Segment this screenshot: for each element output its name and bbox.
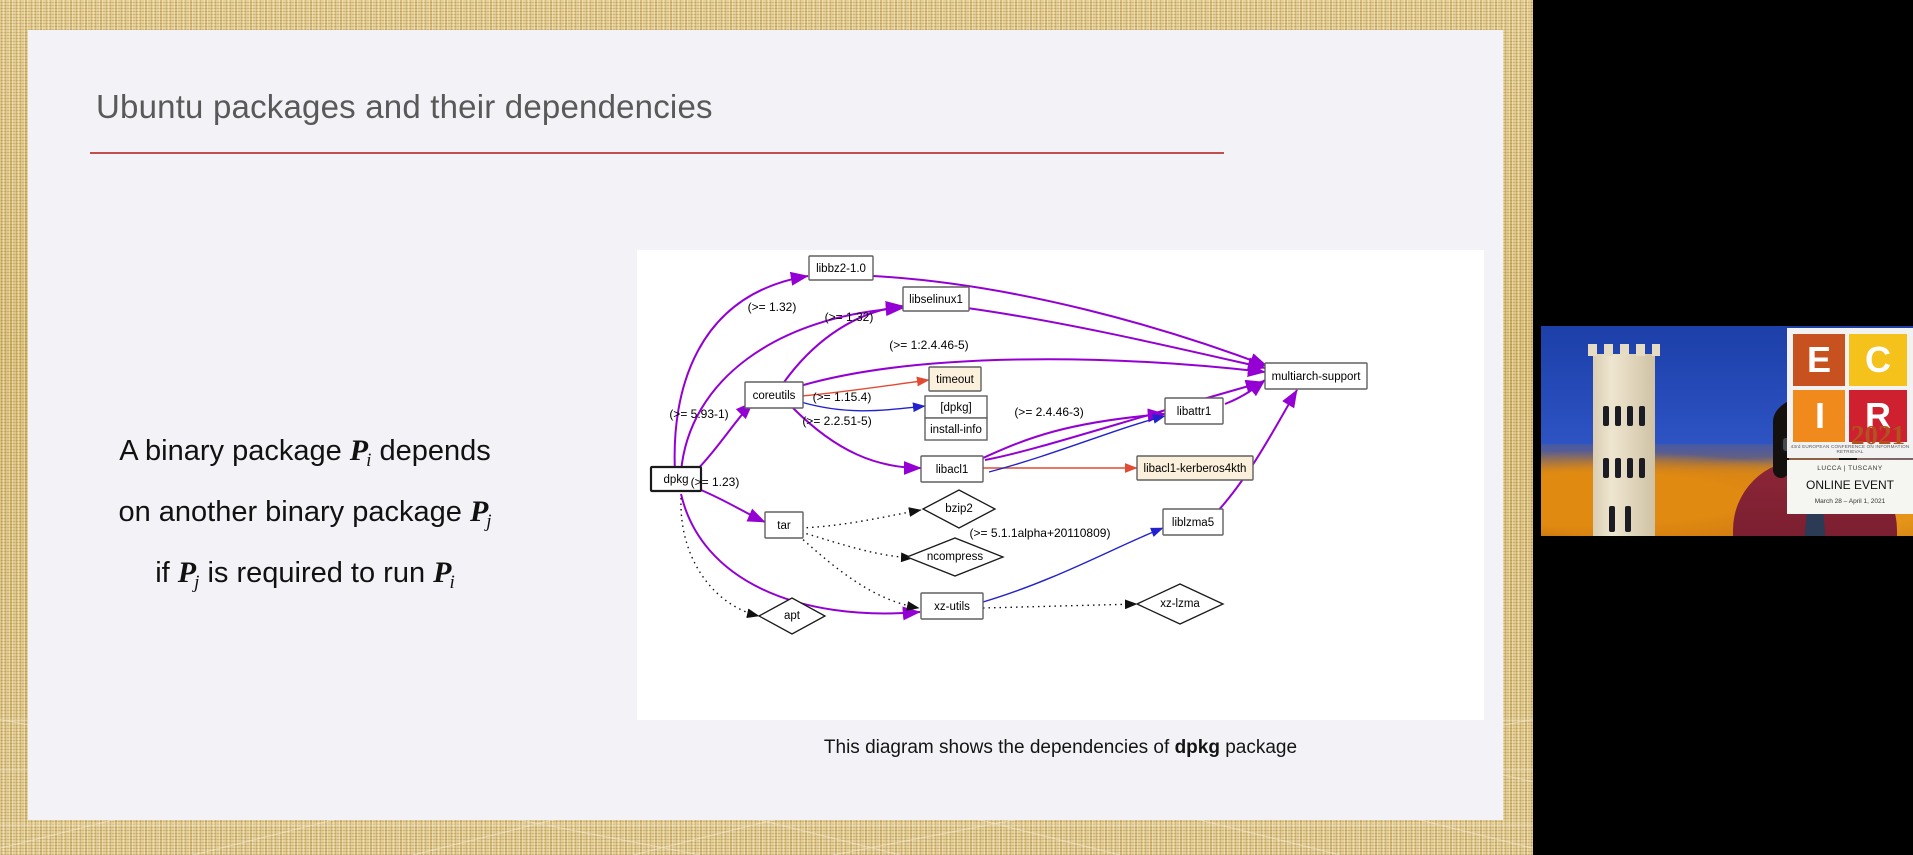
node-libselinux1[interactable]: libselinux1 <box>903 287 969 311</box>
logo-tile-i: I <box>1793 390 1845 442</box>
node-label-libacl1-kerberos4kth: libacl1-kerberos4kth <box>1144 463 1247 475</box>
logo-subtitle: 43rd EUROPEAN CONFERENCE ON INFORMATION … <box>1789 444 1911 454</box>
event-location: LUCCA | TUSCANY <box>1787 465 1913 472</box>
slide-frame-background: Ubuntu packages and their dependencies A… <box>0 0 1533 855</box>
node-label-libselinux1: libselinux1 <box>909 294 963 306</box>
body-line3-pre: if <box>155 557 178 589</box>
node-libbz2-1-0[interactable]: libbz2-1.0 <box>809 256 873 280</box>
body-line3-mid: is required to run <box>199 557 433 589</box>
edge-label-7: (>= 1.23) <box>691 475 740 489</box>
math-sub-i2: i <box>449 572 454 593</box>
diagram-edges <box>675 276 1297 616</box>
caption-pre: This diagram shows the dependencies of <box>824 737 1175 758</box>
event-dates: March 28 – April 1, 2021 <box>1787 498 1913 505</box>
video-panel: E C I R 2021 43rd EUROPEAN CONFERENCE ON… <box>1533 0 1913 855</box>
node-multiarch-support[interactable]: multiarch-support <box>1265 363 1367 389</box>
math-sub-j1: j <box>486 511 491 532</box>
body-line-2: on another binary package Pj <box>90 486 520 547</box>
node-libattr1[interactable]: libattr1 <box>1165 398 1223 424</box>
edge-label-5: (>= 5.93-1) <box>669 407 728 421</box>
node-label-install-info: install-info <box>930 424 982 436</box>
node-label-xz-utils: xz-utils <box>934 601 970 613</box>
node-coreutils[interactable]: coreutils <box>745 382 803 408</box>
node-label-timeout: timeout <box>936 374 975 386</box>
node-libacl1-kerberos4kth[interactable]: libacl1-kerberos4kth <box>1137 456 1253 480</box>
logo-tile-c: C <box>1849 334 1907 386</box>
logo-letter-c: C <box>1865 342 1891 378</box>
edge-label-8: (>= 5.1.1alpha+20110809) <box>970 526 1111 540</box>
slide-canvas: Ubuntu packages and their dependencies A… <box>28 30 1503 820</box>
edge-label-1: (>= 1.32) <box>825 310 874 324</box>
diagram-edge-labels: (>= 1.32) (>= 1.32) (>= 1:2.4.46-5) (>= … <box>669 300 1110 540</box>
body-line-1: A binary package Pi depends <box>90 425 520 486</box>
node-label-bzip2: bzip2 <box>945 503 973 515</box>
logo-letter-e: E <box>1807 342 1831 378</box>
node-liblzma5[interactable]: liblzma5 <box>1163 509 1223 535</box>
video-bell-tower <box>1593 354 1655 536</box>
node-xz-utils[interactable]: xz-utils <box>921 593 983 619</box>
logo-tile-e: E <box>1793 334 1845 386</box>
edge-label-2: (>= 1:2.4.46-5) <box>889 338 968 352</box>
edge-label-3: (>= 1.15.4) <box>813 390 872 404</box>
edge-label-0: (>= 1.32) <box>748 300 797 314</box>
caption-post: package <box>1220 737 1297 758</box>
speaker-video-tile[interactable]: E C I R 2021 43rd EUROPEAN CONFERENCE ON… <box>1541 326 1913 536</box>
body-line-3: if Pj is required to run Pi <box>90 547 520 608</box>
node-xz-lzma[interactable]: xz-lzma <box>1137 584 1223 624</box>
node-libacl1[interactable]: libacl1 <box>921 456 983 482</box>
page-title: Ubuntu packages and their dependencies <box>96 88 713 126</box>
node-tar[interactable]: tar <box>765 512 803 538</box>
body-line1-post: depends <box>371 435 490 467</box>
slide-body-text: A binary package Pi depends on another b… <box>90 425 520 608</box>
node-label-apt: apt <box>784 610 801 622</box>
node-label-libattr1: libattr1 <box>1177 406 1212 418</box>
node-timeout[interactable]: timeout <box>929 367 981 391</box>
slide-presentation-screen: Ubuntu packages and their dependencies A… <box>0 0 1913 855</box>
edge-label-4: (>= 2.2.51-5) <box>802 414 871 428</box>
node-label-tar: tar <box>777 520 791 532</box>
diagram-caption: This diagram shows the dependencies of d… <box>637 737 1484 759</box>
body-line2-pre: on another binary package <box>118 496 469 528</box>
node-label-dpkg: dpkg <box>664 474 689 486</box>
node-dpkg-install-info[interactable]: [dpkg] install-info <box>925 396 987 440</box>
node-label-liblzma5: liblzma5 <box>1172 517 1214 529</box>
event-info-box: LUCCA | TUSCANY ONLINE EVENT March 28 – … <box>1787 460 1913 514</box>
node-label-libacl1: libacl1 <box>936 464 969 476</box>
node-apt[interactable]: apt <box>759 598 825 634</box>
node-label-dpkg-bracket: [dpkg] <box>940 402 971 414</box>
node-label-xz-lzma: xz-lzma <box>1160 598 1200 610</box>
caption-strong: dpkg <box>1175 737 1220 758</box>
ecir-2021-logo: E C I R 2021 <box>1787 328 1913 458</box>
node-label-coreutils: coreutils <box>753 390 796 402</box>
node-label-multiarch-support: multiarch-support <box>1272 371 1362 383</box>
node-ncompress[interactable]: ncompress <box>907 538 1003 576</box>
event-mode: ONLINE EVENT <box>1787 478 1913 492</box>
node-bzip2[interactable]: bzip2 <box>923 490 995 528</box>
edge-label-6: (>= 2.4.46-3) <box>1014 405 1083 419</box>
node-label-libbz2: libbz2-1.0 <box>816 263 866 275</box>
body-line1-pre: A binary package <box>119 435 350 467</box>
title-underline-rule <box>90 152 1224 154</box>
logo-letter-i: I <box>1815 398 1825 434</box>
dependency-diagram: dpkg libbz2-1.0 libselinux1 core <box>637 250 1484 720</box>
node-label-ncompress: ncompress <box>927 551 983 563</box>
